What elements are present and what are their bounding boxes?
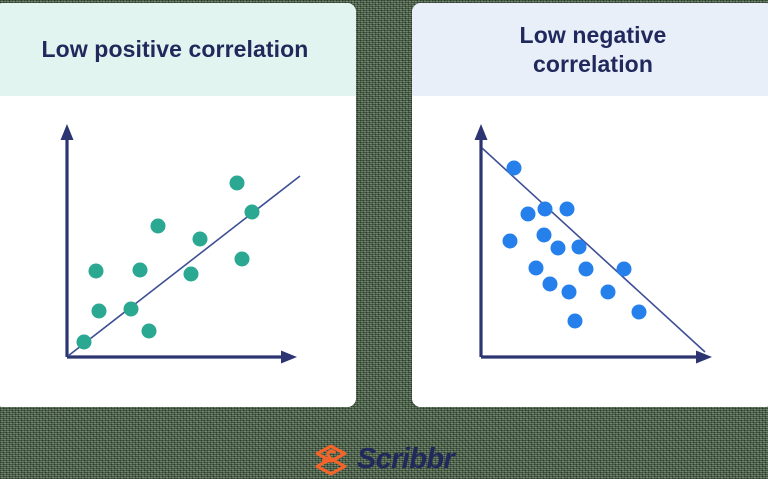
data-point: [579, 262, 594, 277]
x-axis-arrow-icon: [281, 351, 297, 364]
data-point: [77, 335, 92, 350]
data-point: [245, 205, 260, 220]
data-point: [601, 285, 616, 300]
data-point: [529, 261, 544, 276]
data-point: [133, 263, 148, 278]
data-point: [560, 202, 575, 217]
y-axis-arrow-icon: [61, 124, 74, 140]
card-title-low-positive: Low positive correlation: [42, 35, 309, 63]
x-axis-arrow-icon: [696, 351, 712, 364]
trendline: [68, 176, 300, 356]
scatter-plot-low-positive: [0, 96, 356, 407]
scribbr-logo[interactable]: Scribbr: [0, 440, 768, 479]
data-point: [617, 262, 632, 277]
data-point: [92, 304, 107, 319]
data-point: [521, 207, 536, 222]
data-point: [572, 240, 587, 255]
card-header-low-positive: Low positive correlation: [0, 3, 356, 96]
data-point: [89, 264, 104, 279]
data-point: [562, 285, 577, 300]
data-point: [507, 161, 522, 176]
scatter-plot-low-negative: [412, 96, 768, 407]
data-point: [538, 202, 553, 217]
data-point: [124, 302, 139, 317]
data-point: [543, 277, 558, 292]
scatter-svg-low-positive: [0, 96, 356, 407]
data-point: [142, 324, 157, 339]
scatter-svg-low-negative: [412, 96, 768, 407]
data-point: [551, 241, 566, 256]
data-point: [503, 234, 518, 249]
scribbr-graduation-cap-icon: [314, 443, 348, 477]
data-point: [632, 305, 647, 320]
scribbr-wordmark: Scribbr: [357, 443, 454, 476]
trendline: [482, 148, 705, 352]
data-point: [184, 267, 199, 282]
data-points-group: [77, 176, 260, 350]
data-point: [235, 252, 250, 267]
card-title-low-negative: Low negative correlation: [458, 21, 728, 77]
data-point: [230, 176, 245, 191]
correlation-card-low-positive: Low positive correlation: [0, 3, 356, 407]
data-point: [568, 314, 583, 329]
data-point: [151, 219, 166, 234]
card-header-low-negative: Low negative correlation: [412, 3, 768, 96]
y-axis-arrow-icon: [475, 124, 488, 140]
correlation-card-low-negative: Low negative correlation: [412, 3, 768, 407]
data-point: [193, 232, 208, 247]
data-point: [537, 228, 552, 243]
